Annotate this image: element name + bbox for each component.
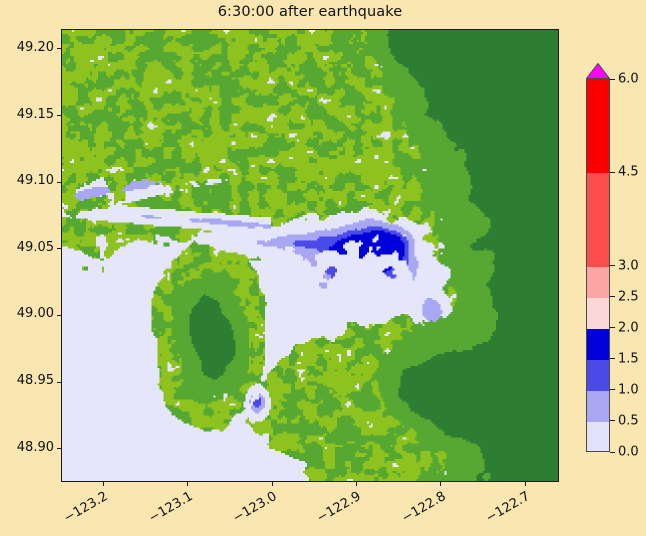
xtick-label: −123.2 xyxy=(51,489,110,532)
ytick-mark xyxy=(57,182,61,183)
ytick-mark xyxy=(57,315,61,316)
colorbar-extend-outline xyxy=(586,63,610,79)
colorbar-tick-label: 3.0 xyxy=(618,258,639,273)
colorbar-segment xyxy=(587,80,609,173)
colorbar-tick-mark xyxy=(610,172,615,173)
ytick-label: 48.90 xyxy=(2,440,54,455)
inundation-heatmap xyxy=(62,30,558,481)
colorbar-segment xyxy=(587,329,609,360)
colorbar-tick-mark xyxy=(610,79,615,80)
xtick-mark xyxy=(356,482,357,486)
page-title: 6:30:00 after earthquake xyxy=(61,4,559,20)
colorbar-segment xyxy=(587,267,609,298)
ytick-mark xyxy=(57,382,61,383)
ytick-label: 49.20 xyxy=(2,40,54,55)
colorbar-tick-mark xyxy=(610,358,615,359)
ytick-label: 49.05 xyxy=(2,240,54,255)
colorbar-tick-mark xyxy=(610,389,615,390)
ytick-label: 49.15 xyxy=(2,107,54,122)
colorbar-tick-label: 0.5 xyxy=(618,413,639,428)
xtick-mark xyxy=(525,482,526,486)
colorbar-tick-mark xyxy=(610,296,615,297)
colorbar-segment xyxy=(587,360,609,391)
colorbar-tick-label: 2.0 xyxy=(618,320,639,335)
colorbar-tick-mark xyxy=(610,265,615,266)
ytick-mark xyxy=(57,448,61,449)
xtick-mark xyxy=(272,482,273,486)
colorbar-segment xyxy=(587,391,609,422)
colorbar-segment xyxy=(587,422,609,452)
colorbar-tick-label: 6.0 xyxy=(618,72,639,87)
colorbar-gradient xyxy=(586,79,610,452)
xtick-mark xyxy=(103,482,104,486)
xtick-label: −123.1 xyxy=(136,489,195,532)
xtick-label: −122.9 xyxy=(304,489,363,532)
ytick-label: 49.00 xyxy=(2,306,54,321)
colorbar[interactable] xyxy=(586,63,610,463)
xtick-mark xyxy=(187,482,188,486)
ytick-mark xyxy=(57,48,61,49)
xtick-label: −122.8 xyxy=(389,489,448,532)
colorbar-tick-label: 0.0 xyxy=(618,445,639,460)
ytick-mark xyxy=(57,115,61,116)
colorbar-tick-mark xyxy=(610,327,615,328)
colorbar-tick-mark xyxy=(610,452,615,453)
colorbar-tick-label: 1.5 xyxy=(618,351,639,366)
xtick-mark xyxy=(440,482,441,486)
ytick-mark xyxy=(57,248,61,249)
colorbar-tick-mark xyxy=(610,420,615,421)
colorbar-tick-label: 2.5 xyxy=(618,289,639,304)
xtick-label: −122.7 xyxy=(473,489,532,532)
colorbar-segment xyxy=(587,298,609,329)
ytick-label: 49.10 xyxy=(2,173,54,188)
xtick-label: −123.0 xyxy=(220,489,279,532)
map-axes[interactable] xyxy=(61,29,559,482)
colorbar-tick-label: 4.5 xyxy=(618,165,639,180)
ytick-label: 48.95 xyxy=(2,373,54,388)
colorbar-segment xyxy=(587,173,609,266)
colorbar-tick-label: 1.0 xyxy=(618,382,639,397)
figure-canvas: 6:30:00 after earthquake 49.2049.1549.10… xyxy=(0,0,646,536)
